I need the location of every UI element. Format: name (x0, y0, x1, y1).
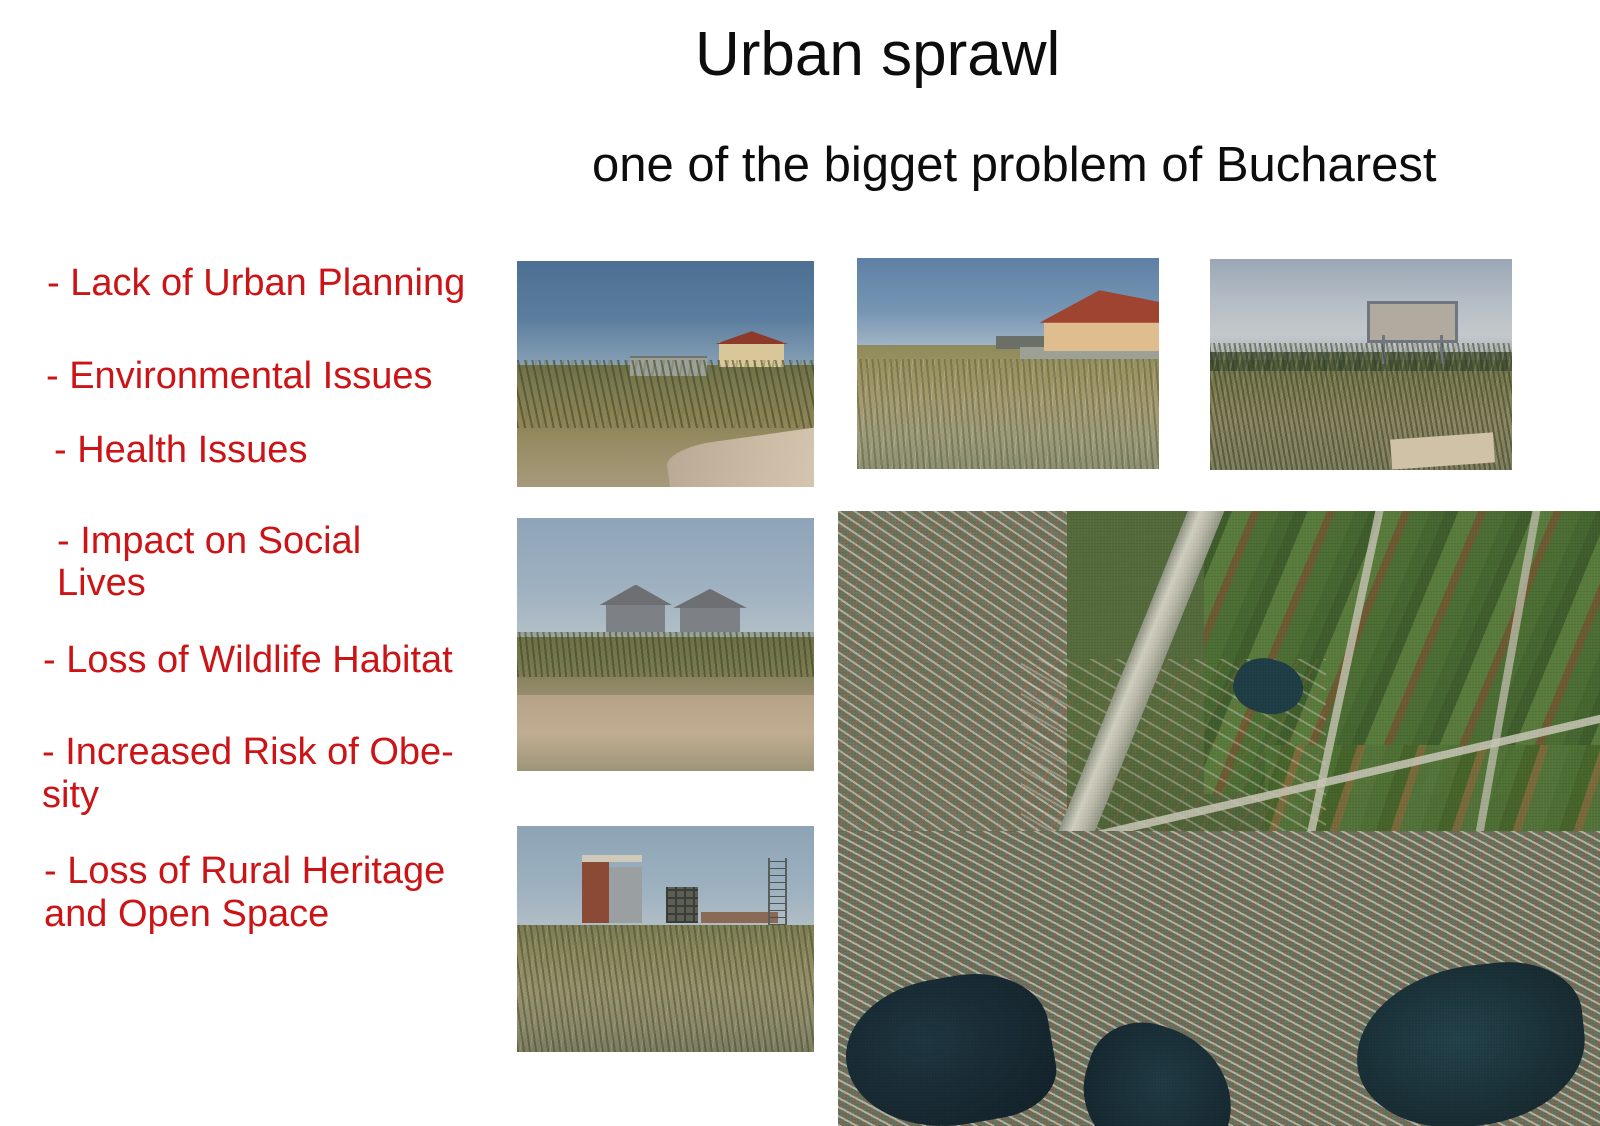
bullet-item-loss-of-rural-heritage: - Loss of Rural Heritage and Open Space (0, 850, 505, 935)
photo-field-with-house (517, 261, 814, 487)
photo-dry-grass (857, 359, 1159, 469)
aerial-texture-overlay (838, 511, 1600, 1126)
photo-billboard-over-vacant-lot (1210, 259, 1512, 470)
photo-concrete-frame (666, 887, 699, 923)
photo-scrub (517, 632, 814, 678)
photo-block-roof (582, 855, 641, 862)
photo-distant-houses (701, 912, 778, 923)
photo-sky (517, 518, 814, 637)
bullet-item-environmental-issues: - Environmental Issues (0, 355, 505, 398)
photo-large-house (1044, 321, 1159, 351)
photo-concrete-block (609, 867, 642, 924)
photo-electricity-pylon (768, 858, 787, 926)
photo-twin-unfinished-houses (517, 518, 814, 771)
photo-unfinished-apartment-block (517, 826, 814, 1052)
photo-weeds (517, 360, 814, 428)
photo-bare-earth (517, 695, 814, 771)
bullet-item-impact-on-social-lives: - Impact on Social Lives (0, 520, 505, 605)
page-subtitle: one of the bigget problem of Bucharest (592, 140, 1436, 191)
slide-canvas: Urban sprawl one of the bigget problem o… (0, 0, 1600, 1126)
photo-aerial-satellite-view (838, 511, 1600, 1126)
photo-new-house-in-field (857, 258, 1159, 469)
bullet-list: - Lack of Urban Planning - Environmental… (0, 262, 505, 935)
photo-house-left (606, 604, 665, 632)
bullet-item-health-issues: - Health Issues (0, 429, 505, 472)
photo-brick-block (582, 860, 609, 923)
photo-billboard (1367, 301, 1458, 343)
photo-scrubland (517, 925, 814, 1052)
bullet-item-increased-risk-of-obesity: - Increased Risk of Obe- sity (0, 731, 505, 816)
bullet-item-loss-of-wildlife-habitat: - Loss of Wildlife Habitat (0, 639, 505, 682)
page-title: Urban sprawl (695, 22, 1060, 87)
bullet-item-lack-of-urban-planning: - Lack of Urban Planning (0, 262, 505, 305)
photo-house-right (680, 607, 739, 632)
